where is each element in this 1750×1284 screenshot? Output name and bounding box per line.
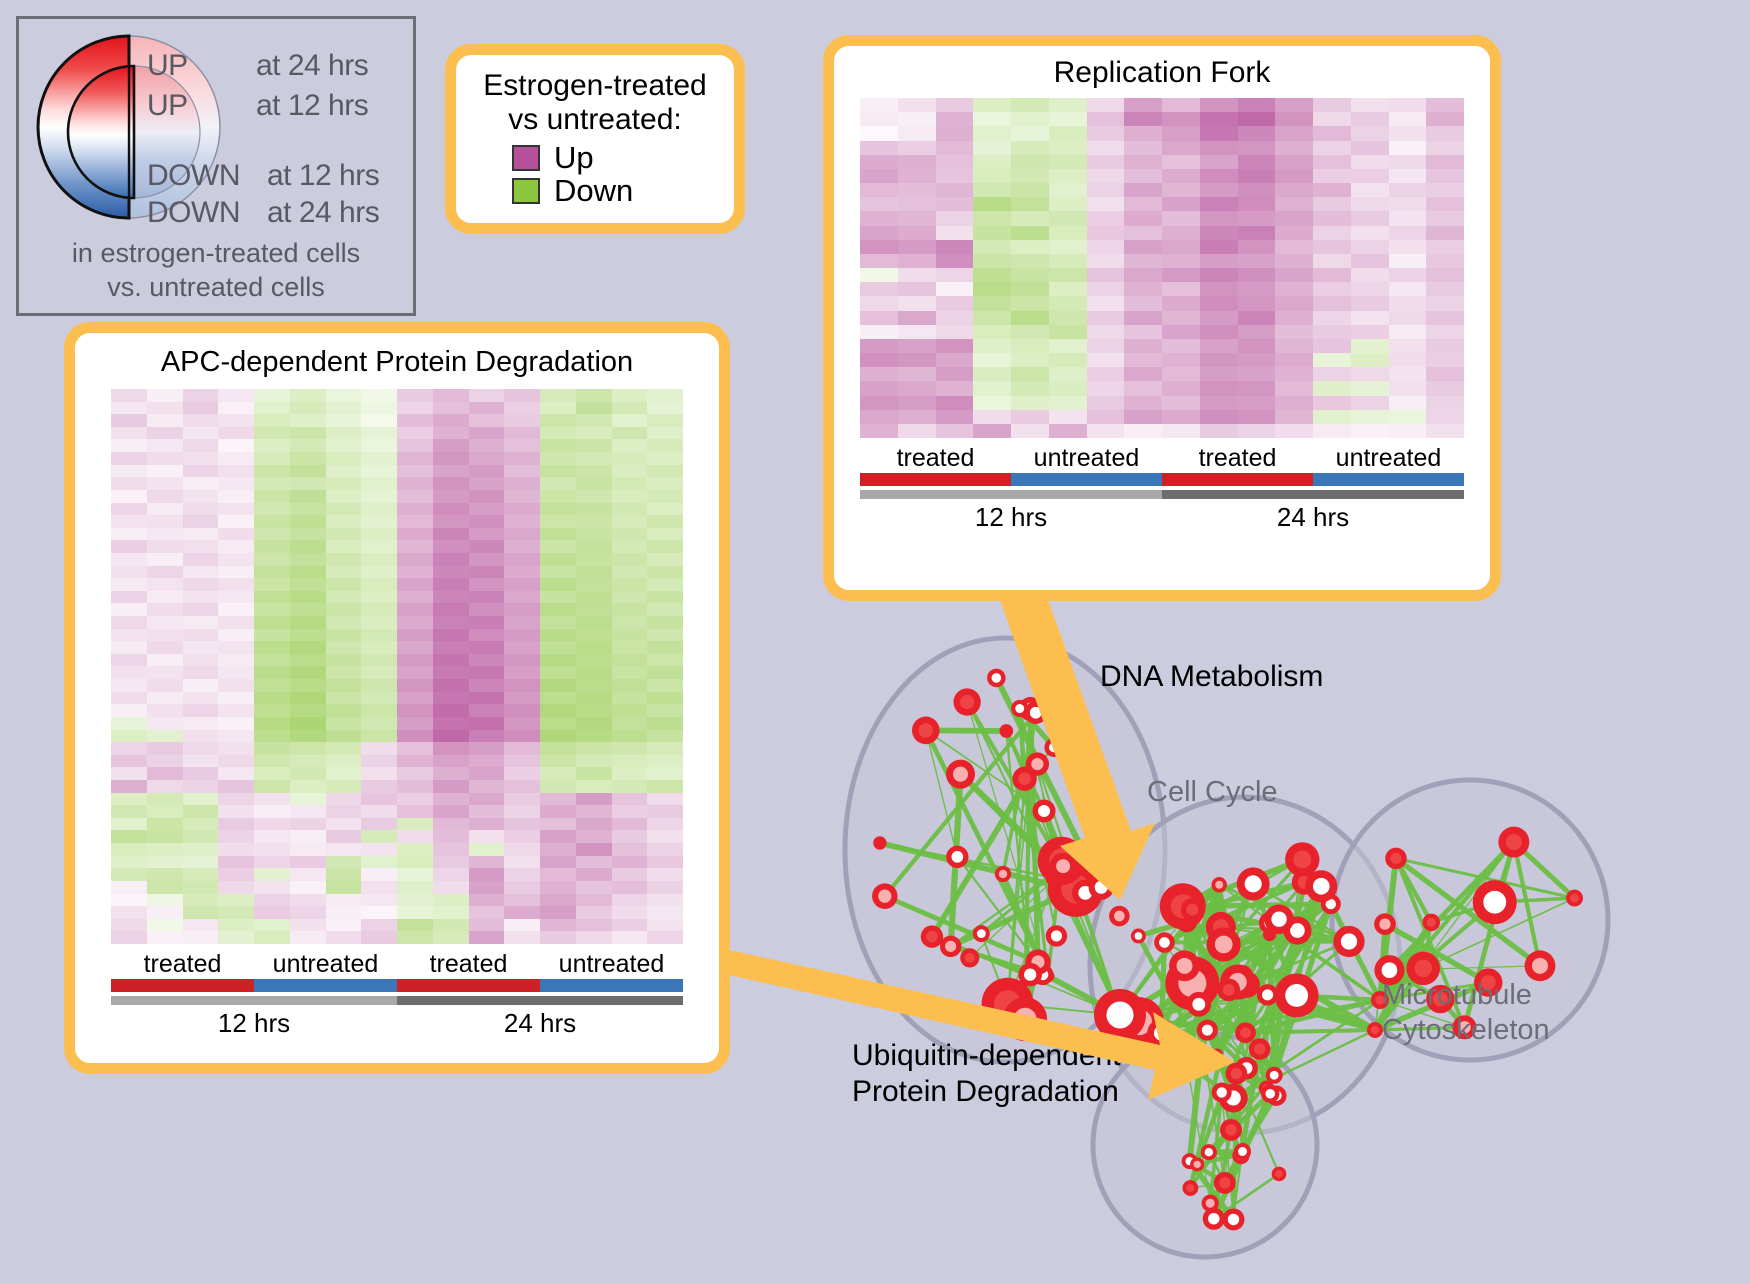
heatmap-cell [361,755,397,768]
heatmap-cell [469,793,505,806]
heatmap-cell [433,717,469,730]
network-node-core [1051,930,1062,941]
heatmap-cell [397,881,433,894]
heatmap-cell [361,427,397,440]
heatmap-cell [647,439,683,452]
heatmap-cell [111,616,147,629]
heatmap-cell [612,414,648,427]
heatmap-cell [290,528,326,541]
heatmap-cell [1011,339,1049,353]
network-edge [1246,1030,1375,1033]
heatmap-cell [1124,268,1162,282]
rf-time-labels: 12 hrs 24 hrs [860,502,1464,533]
heatmap-cell [1238,296,1276,310]
heatmap-cell [469,830,505,843]
heatmap-cell [1351,296,1389,310]
heatmap-cell [504,427,540,440]
heatmap-cell [1200,254,1238,268]
heatmap-cell [504,578,540,591]
ub-line1: Ubiquitin-dependent [852,1038,1121,1074]
heatmap-cell [1389,211,1427,225]
heatmap-cell [183,566,219,579]
heatmap-cell [1200,311,1238,325]
heatmap-cell [433,603,469,616]
heatmap-cell [326,629,362,642]
heatmap-cell [1313,424,1351,438]
heatmap-cell [433,805,469,818]
heatmap-cell [254,830,290,843]
heatmap-cell [936,424,974,438]
heatmap-cell [1313,296,1351,310]
heatmap-cell [973,98,1011,112]
heatmap-cell [504,881,540,894]
heatmap-cell [576,919,612,932]
legend-label-down: Down [554,175,633,206]
heatmap-cell [936,169,974,183]
heatmap-cell [147,414,183,427]
heatmap-cell [361,465,397,478]
heatmap-cell [218,616,254,629]
heatmap-cell [504,704,540,717]
heatmap-cell [218,389,254,402]
heatmap-cell [433,490,469,503]
heatmap-cell [860,396,898,410]
heatmap-cell [111,868,147,881]
heatmap-cell [898,254,936,268]
heatmap-cell [1238,424,1276,438]
heatmap-cell [612,654,648,667]
heatmap-cell [1162,155,1200,169]
heatmap-cell [1351,268,1389,282]
heatmap-cell [1238,325,1276,339]
heatmap-cell [183,919,219,932]
heatmap-cell [540,755,576,768]
heatmap-cell [1389,183,1427,197]
heatmap-cell [254,477,290,490]
heatmap-cell [1124,410,1162,424]
heatmap-cell [1200,240,1238,254]
heatmap-cell [1238,353,1276,367]
heatmap-cell [397,856,433,869]
heatmap-cell [254,692,290,705]
heatmap-cell [576,881,612,894]
network-node[interactable] [1211,1048,1223,1060]
heatmap-cell [218,730,254,743]
heatmap-cell [218,414,254,427]
heatmap-cell [1124,183,1162,197]
heatmap-cell [469,906,505,919]
heatmap-cell [433,818,469,831]
heatmap-cell [1275,325,1313,339]
heatmap-cell [1162,226,1200,240]
heatmap-cell [290,578,326,591]
heatmap-cell [647,793,683,806]
heatmap-cell [612,603,648,616]
heatmap-cell [1426,381,1464,395]
network-node-core [1390,853,1401,864]
network-node-core [1114,911,1125,922]
heatmap-cell [254,528,290,541]
heatmap-cell [397,654,433,667]
heatmap-cell [111,931,147,944]
heatmap-cell [576,427,612,440]
heatmap-cell [183,427,219,440]
heatmap-cell [147,730,183,743]
heatmap-cell [147,666,183,679]
network-node-core [926,931,938,943]
heatmap-cell [1351,141,1389,155]
heatmap-cell [183,679,219,692]
heatmap-cell [111,629,147,642]
network-node-core [1159,937,1170,948]
heatmap-cell [183,414,219,427]
heatmap-cell [540,566,576,579]
network-node-core [1194,1161,1201,1168]
heatmap-cell [326,931,362,944]
heatmap-cell [218,515,254,528]
heatmap-cell [1313,240,1351,254]
heatmap-cell [326,641,362,654]
heatmap-cell [1389,226,1427,240]
heatmap-cell [254,402,290,415]
heatmap-cell [1389,126,1427,140]
heatmap-cell [1162,396,1200,410]
heatmap-cell [860,353,898,367]
heatmap-cell [361,654,397,667]
heatmap-cell [111,465,147,478]
heatmap-cell [1238,141,1276,155]
heatmap-cell [1426,325,1464,339]
rf-treatment-colorbar [860,473,1464,486]
rf-group-label-1: untreated [1011,444,1162,473]
ring-footer-line1: in estrogen-treated cells [19,237,413,271]
heatmap-cell [647,490,683,503]
heatmap-cell [576,730,612,743]
network-node-core [1415,960,1432,977]
network-node-core [1231,1068,1242,1079]
heatmap-cell [361,528,397,541]
heatmap-cell [898,226,936,240]
heatmap-cell [147,793,183,806]
heatmap-cell [433,704,469,717]
heatmap-cell [469,465,505,478]
heatmap-cell [290,654,326,667]
heatmap-cell [397,843,433,856]
heatmap-cell [540,906,576,919]
heatmap-cell [898,155,936,169]
network-node[interactable] [999,724,1013,738]
legend-title: Estrogen-treated vs untreated: [456,69,734,136]
heatmap-cell [290,566,326,579]
heatmap-cell [898,396,936,410]
heatmap-cell [361,692,397,705]
heatmap-cell [898,424,936,438]
heatmap-cell [111,679,147,692]
heatmap-cell [973,410,1011,424]
heatmap-cell [612,894,648,907]
heatmap-cell [254,906,290,919]
heatmap-cell [1351,126,1389,140]
heatmap-cell [1087,211,1125,225]
heatmap-cell [326,452,362,465]
network-node-core [1030,707,1042,719]
heatmap-cell [576,793,612,806]
heatmap-cell [397,465,433,478]
heatmap-cell [361,793,397,806]
heatmap-cell [612,780,648,793]
heatmap-cell [936,410,974,424]
network-node[interactable] [1263,928,1276,941]
heatmap-cell [1389,325,1427,339]
heatmap-cell [576,503,612,516]
heatmap-cell [218,553,254,566]
heatmap-cell [1011,98,1049,112]
heatmap-cell [433,515,469,528]
heatmap-cell [183,742,219,755]
heatmap-cell [361,452,397,465]
heatmap-cell [397,666,433,679]
heatmap-cell [647,389,683,402]
network-node-core [1056,859,1070,873]
heatmap-cell [433,755,469,768]
heatmap-cell [1426,112,1464,126]
heatmap-cell [111,439,147,452]
network-node-core [945,941,956,952]
heatmap-cell [469,578,505,591]
heatmap-cell [218,641,254,654]
heatmap-cell [111,843,147,856]
heatmap-cell [612,641,648,654]
heatmap-cell [612,818,648,831]
heatmap-cell [1313,339,1351,353]
heatmap-cell [936,126,974,140]
heatmap-cell [183,856,219,869]
heatmap-cell [1124,197,1162,211]
heatmap-cell [254,894,290,907]
heatmap-cell [1351,424,1389,438]
heatmap-cell [540,742,576,755]
heatmap-cell [898,367,936,381]
heatmap-cell [936,211,974,225]
heatmap-cell [1011,240,1049,254]
legend-item-down: Down [512,175,734,206]
heatmap-cell [326,603,362,616]
network-node-core [1031,758,1043,770]
heatmap-cell [147,515,183,528]
heatmap-cell [973,424,1011,438]
heatmap-cell [1238,268,1276,282]
network-node-core [1217,1087,1227,1097]
heatmap-cell [218,717,254,730]
heatmap-cell [397,591,433,604]
heatmap-cell [397,414,433,427]
heatmap-cell [433,591,469,604]
heatmap-cell [898,183,936,197]
heatmap-cell [111,515,147,528]
legend-title-line2: vs untreated: [456,103,734,137]
heatmap-cell [290,414,326,427]
heatmap-cell [1087,254,1125,268]
heatmap-cell [860,240,898,254]
heatmap-cell [397,553,433,566]
heatmap-cell [183,666,219,679]
heatmap-cell [397,679,433,692]
heatmap-cell [1049,396,1087,410]
heatmap-cell [1426,240,1464,254]
heatmap-cell [576,578,612,591]
heatmap-cell [254,603,290,616]
heatmap-cell [183,402,219,415]
heatmap-cell [973,197,1011,211]
heatmap-cell [1238,410,1276,424]
heatmap-cell [433,894,469,907]
heatmap-cell [433,881,469,894]
heatmap-cell [1011,183,1049,197]
heatmap-cell [361,931,397,944]
heatmap-cell [361,868,397,881]
heatmap-cell [433,793,469,806]
heatmap-cell [576,666,612,679]
heatmap-cell [576,818,612,831]
network-node-core [1225,1124,1236,1135]
heatmap-cell [469,767,505,780]
heatmap-cell [254,843,290,856]
network-node[interactable] [873,836,886,849]
heatmap-cell [183,465,219,478]
heatmap-cell [433,666,469,679]
heatmap-cell [936,381,974,395]
heatmap-cell [147,503,183,516]
heatmap-cell [1238,226,1276,240]
heatmap-cell [1162,183,1200,197]
heatmap-cell [540,894,576,907]
heatmap-cell [361,629,397,642]
heatmap-cell [361,742,397,755]
heatmap-cell [647,591,683,604]
heatmap-cell [973,254,1011,268]
heatmap-cell [504,780,540,793]
heatmap-cell [540,641,576,654]
heatmap-cell [576,780,612,793]
heatmap-cell [504,477,540,490]
heatmap-cell [254,641,290,654]
heatmap-cell [612,490,648,503]
heatmap-cell [147,490,183,503]
heatmap-cell [647,566,683,579]
heatmap-cell [433,654,469,667]
heatmap-cell [504,629,540,642]
heatmap-cell [218,755,254,768]
heatmap-cell [647,553,683,566]
heatmap-cell [1087,169,1125,183]
heatmap-cell [1389,381,1427,395]
network-node-core [1205,1148,1213,1156]
heatmap-cell [254,818,290,831]
heatmap-cell [576,439,612,452]
heatmap-cell [973,367,1011,381]
heatmap-cell [469,389,505,402]
heatmap-cell [361,553,397,566]
heatmap-cell [433,692,469,705]
heatmap-cell [433,439,469,452]
heatmap-cell [860,367,898,381]
heatmap-cell [361,843,397,856]
heatmap-cell [397,389,433,402]
heatmap-cell [397,767,433,780]
heatmap-cell [540,868,576,881]
heatmap-cell [504,830,540,843]
apc-time-label-0: 12 hrs [111,1008,397,1039]
heatmap-cell [1389,424,1427,438]
heatmap-cell [647,818,683,831]
heatmap-cell [936,282,974,296]
heatmap-cell [290,894,326,907]
network-node-core [1238,1147,1247,1156]
heatmap-cell [860,282,898,296]
heatmap-cell [397,793,433,806]
heatmap-cell [647,629,683,642]
heatmap-cell [1200,296,1238,310]
apc-degradation-panel: APC-dependent Protein Degradation treate… [64,322,730,1074]
heatmap-cell [290,692,326,705]
heatmap-cell [576,603,612,616]
rf-time-colorbar [860,490,1464,499]
heatmap-cell [1389,240,1427,254]
heatmap-cell [1124,381,1162,395]
heatmap-cell [326,742,362,755]
heatmap-cell [1351,353,1389,367]
heatmap-cell [218,830,254,843]
heatmap-cell [397,830,433,843]
updown-legend-card: Estrogen-treated vs untreated: Up Down [445,44,745,234]
heatmap-cell [361,856,397,869]
heatmap-cell [469,730,505,743]
heatmap-cell [326,856,362,869]
heatmap-cell [254,439,290,452]
heatmap-cell [147,528,183,541]
apc-treatment-colorbar [111,979,683,992]
heatmap-cell [397,452,433,465]
heatmap-cell [1389,197,1427,211]
heatmap-cell [612,616,648,629]
heatmap-cell [290,704,326,717]
heatmap-cell [612,830,648,843]
heatmap-cell [576,402,612,415]
heatmap-cell [326,919,362,932]
treatment-bar-1 [254,979,397,992]
network-node-core [1176,958,1192,974]
heatmap-cell [326,465,362,478]
heatmap-cell [361,730,397,743]
heatmap-cell [111,919,147,932]
heatmap-cell [361,818,397,831]
heatmap-cell [218,490,254,503]
network-node[interactable] [1196,1048,1210,1062]
heatmap-cell [254,553,290,566]
heatmap-cell [1162,325,1200,339]
heatmap-cell [647,780,683,793]
heatmap-cell [326,894,362,907]
heatmap-cell [111,755,147,768]
heatmap-cell [1049,240,1087,254]
heatmap-cell [540,793,576,806]
heatmap-cell [1238,183,1276,197]
heatmap-cell [326,578,362,591]
network-node-core [1262,989,1273,1000]
apc-heatmap [111,389,683,944]
legend-label-up: Up [554,142,594,173]
heatmap-cell [504,919,540,932]
